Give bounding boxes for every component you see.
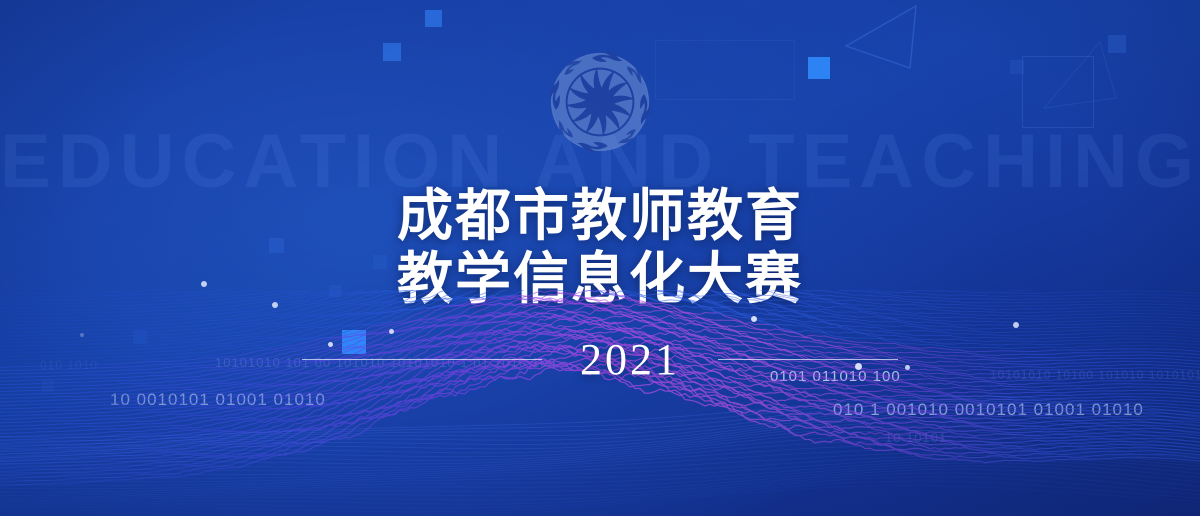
ridge-line [0,290,1200,319]
dot-3 [389,329,394,334]
year-row: 2021 [0,334,1200,385]
rule-left [302,359,542,360]
square-outline-decoration-2 [655,40,795,100]
dot-2 [272,302,278,308]
rule-right [718,359,898,360]
topographic-wave-graphic [0,290,1200,516]
square-accent-2 [383,43,401,61]
square-accent-1 [425,10,442,27]
square-accent-3 [808,57,830,79]
triangle-outline-decoration [840,4,950,74]
dot-1 [201,281,207,287]
dot-9 [1013,322,1019,328]
title-line-1: 成都市教师教育 [0,186,1200,249]
dot-8 [905,365,910,370]
chengdu-sun-and-immortal-birds-emblem [545,48,655,156]
square-accent-4 [1108,35,1126,53]
event-banner: EDUCATION AND TEACHING [0,0,1200,516]
year-label: 2021 [542,334,718,385]
square-accent-5 [1010,60,1024,74]
ridge-line [0,290,1200,322]
dot-6 [751,316,757,322]
dot-5 [80,333,84,337]
dot-4 [328,342,333,347]
wave-tail-line [0,477,1200,505]
dot-7 [855,363,862,370]
